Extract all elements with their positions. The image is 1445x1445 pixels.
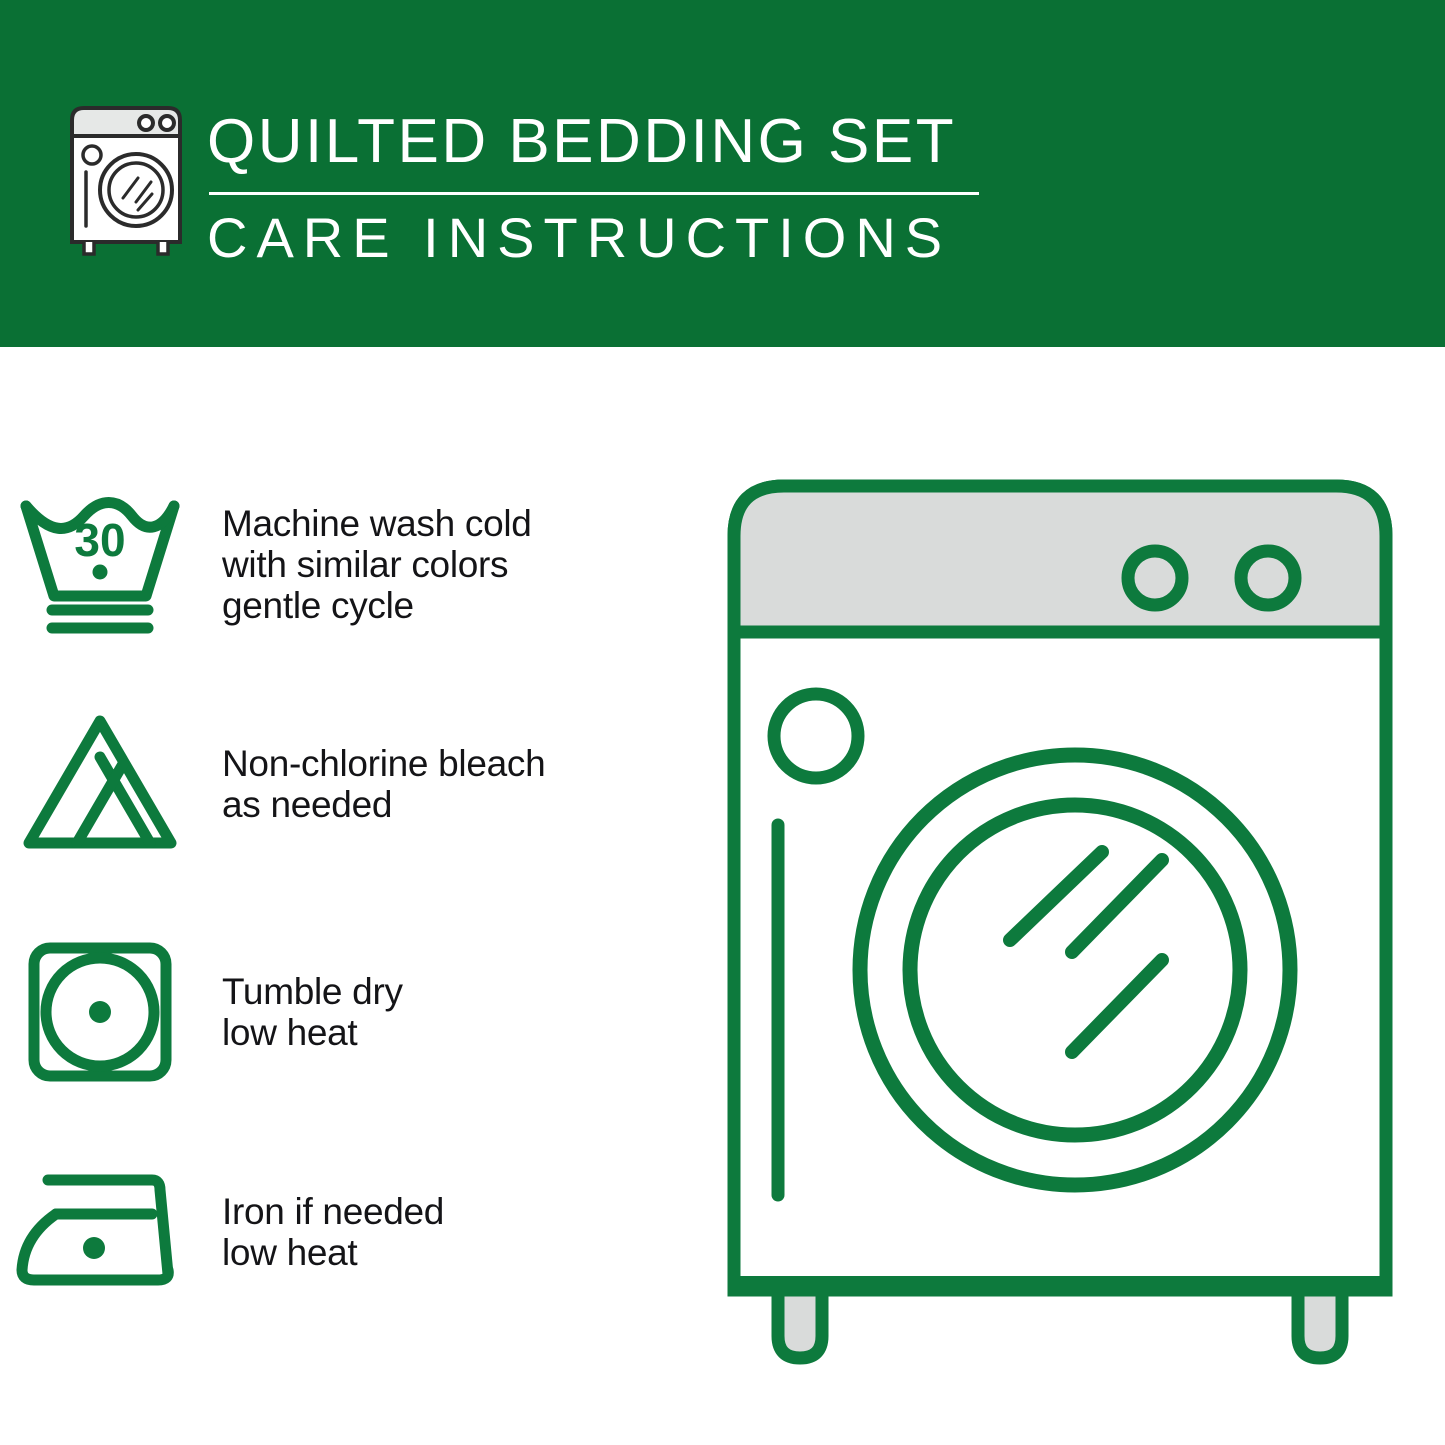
care-row-tumble-dry: Tumble dry low heat [0, 917, 700, 1107]
page-subtitle: CARE INSTRUCTIONS [207, 205, 997, 271]
care-line: low heat [222, 1012, 403, 1053]
care-line: gentle cycle [222, 585, 532, 626]
care-instructions-page: QUILTED BEDDING SET CARE INSTRUCTIONS 30 [0, 0, 1445, 1445]
care-line: Non-chlorine bleach [222, 743, 545, 784]
washing-machine-illustration [700, 460, 1420, 1390]
care-text-iron: Iron if needed low heat [200, 1191, 444, 1273]
care-text-bleach: Non-chlorine bleach as needed [200, 743, 545, 825]
care-line: Machine wash cold [222, 503, 532, 544]
wash-temperature-label: 30 [74, 514, 125, 566]
care-line: as needed [222, 784, 545, 825]
iron-icon [0, 1142, 200, 1322]
care-row-iron: Iron if needed low heat [0, 1137, 700, 1327]
wash-tub-30-icon: 30 [0, 474, 200, 654]
care-line: with similar colors [222, 544, 532, 585]
header-band: QUILTED BEDDING SET CARE INSTRUCTIONS [0, 0, 1445, 347]
care-row-machine-wash: 30 Machine wash cold with similar colors… [0, 469, 700, 659]
page-title: QUILTED BEDDING SET [207, 104, 997, 180]
leg-right [1298, 1290, 1342, 1358]
tumble-dry-icon [0, 922, 200, 1102]
care-line: Iron if needed [222, 1191, 444, 1232]
care-instruction-list: 30 Machine wash cold with similar colors… [0, 347, 700, 1445]
bleach-triangle-icon [0, 694, 200, 874]
care-text-tumble-dry: Tumble dry low heat [200, 971, 403, 1053]
washing-machine-logo-icon [66, 104, 186, 256]
leg-left [778, 1290, 822, 1358]
header-text-block: QUILTED BEDDING SET CARE INSTRUCTIONS [207, 104, 997, 271]
title-divider [209, 192, 979, 195]
care-text-machine-wash: Machine wash cold with similar colors ge… [200, 503, 532, 626]
care-line: low heat [222, 1232, 444, 1273]
care-row-bleach: Non-chlorine bleach as needed [0, 689, 700, 879]
care-line: Tumble dry [222, 971, 403, 1012]
